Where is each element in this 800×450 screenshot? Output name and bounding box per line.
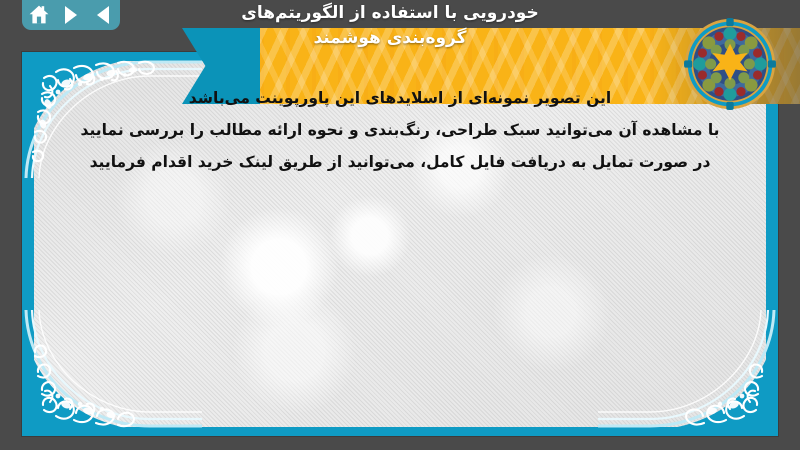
body-line-1: این تصویر نمونه‌ای از اسلایدهای این پاور…: [40, 82, 760, 114]
forward-button[interactable]: [61, 4, 82, 25]
body-text-block: این تصویر نمونه‌ای از اسلایدهای این پاور…: [40, 82, 760, 178]
back-triangle-icon: [97, 6, 109, 24]
forward-triangle-icon: [65, 6, 77, 24]
title-line-3: گروه‌بندی هوشمند: [0, 26, 780, 51]
presentation-slide: افزایش پایداری ارتباطی در شبکه‌های خودرو…: [0, 0, 800, 450]
home-button[interactable]: [29, 4, 50, 25]
body-line-3: در صورت تمایل به دریافت فایل کامل، می‌تو…: [40, 146, 760, 178]
back-button[interactable]: [93, 4, 114, 25]
persian-medallion-icon: [684, 18, 776, 110]
body-line-2: با مشاهده آن می‌توانید سبک طراحی، رنگ‌بن…: [40, 114, 760, 146]
navigation-bar: [22, 0, 120, 30]
home-icon: [29, 5, 49, 24]
